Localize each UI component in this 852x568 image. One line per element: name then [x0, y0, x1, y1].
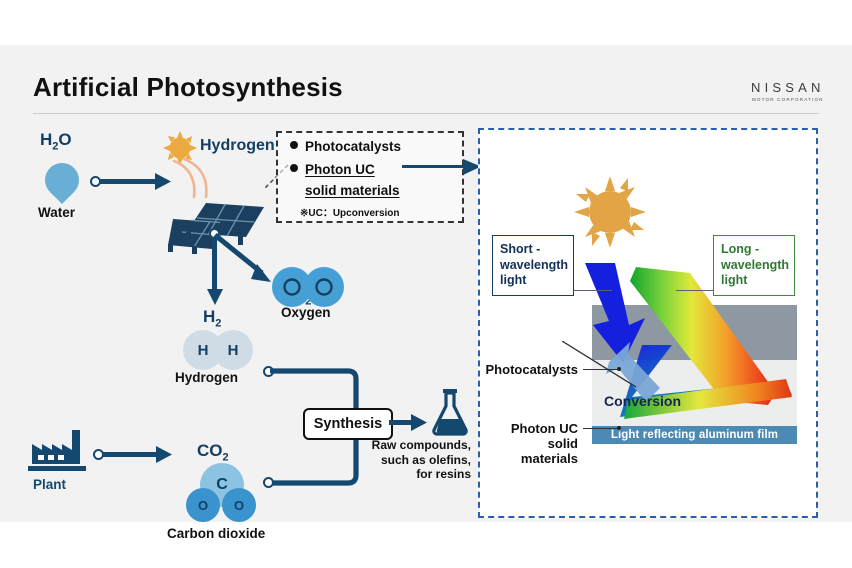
conversion-label: Conversion [604, 393, 681, 409]
leader-photon-uc [583, 428, 618, 429]
arrowhead-plant [156, 445, 174, 464]
long-wavelength-callout: Long - wavelength light [713, 235, 795, 296]
synthesis-box[interactable]: Synthesis [303, 408, 393, 440]
flask-icon [430, 389, 470, 437]
water-formula: H2O [40, 130, 72, 152]
sun-large-icon [574, 176, 646, 248]
oxygen-caption: Oxygen [281, 305, 331, 320]
title-divider [33, 113, 819, 114]
co2-atom-oxygen-1: O [186, 488, 220, 522]
nissan-logo: NISSAN MOTOR CORPORATION [751, 81, 825, 103]
arrowhead-hydrogen [206, 289, 224, 307]
legend-item-solid-materials: solid materials [305, 183, 400, 198]
bullet-icon [290, 164, 298, 172]
logo-subtitle: MOTOR CORPORATION [751, 97, 825, 103]
photon-uc-label: Photon UC solid materials [494, 421, 578, 466]
arrow-water-to-panel [99, 179, 157, 184]
hydrogen-caption: Hydrogen [175, 370, 238, 385]
oxygen-atom-2 [304, 267, 344, 307]
hydrogen-formula: H2 [203, 307, 221, 329]
co2-atom-oxygen-2: O [222, 488, 256, 522]
arrow-to-detail-panel [402, 165, 466, 168]
arrowhead-product [411, 413, 429, 432]
logo-brand: NISSAN [751, 81, 825, 94]
light-waves-icon [168, 157, 218, 203]
plant-caption: Plant [33, 477, 66, 492]
short-wavelength-callout: Short - wavelength light [492, 235, 574, 296]
hydrogen-output-label: Hydrogen [200, 137, 275, 155]
co2-caption: Carbon dioxide [167, 526, 265, 541]
plant-factory-icon [28, 430, 90, 476]
pointer-line-photocatalysts [562, 341, 647, 391]
water-caption: Water [38, 205, 75, 220]
bullet-icon [290, 141, 298, 149]
arrow-synthesis-to-product [389, 420, 413, 425]
slide-canvas: Artificial Photosynthesis NISSAN MOTOR C… [0, 45, 852, 522]
legend-item-photocatalysts: Photocatalysts [290, 139, 401, 154]
product-caption: Raw compounds, such as olefins, for resi… [371, 438, 471, 482]
page-title: Artificial Photosynthesis [33, 72, 343, 103]
leader-dot-photon-uc [617, 426, 621, 430]
leader-short-wavelength [574, 290, 612, 291]
arrow-plant-to-co2 [102, 452, 158, 457]
water-drop-icon [38, 156, 86, 204]
line-to-oxygen [212, 233, 278, 289]
co2-formula: CO2 [197, 441, 229, 463]
legend-item-photon-uc: Photon UC [290, 162, 375, 177]
leader-long-wavelength [676, 290, 714, 291]
hydrogen-atom-2: H [213, 330, 253, 370]
legend-note: ※UC：Upconversion [300, 204, 400, 219]
connector-node-co2-out [263, 477, 274, 488]
